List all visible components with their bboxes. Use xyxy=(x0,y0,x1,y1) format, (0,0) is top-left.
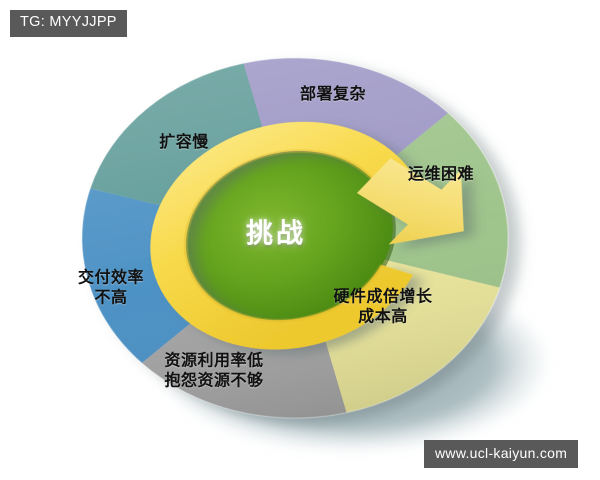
watermark-bottom-right: www.ucl-kaiyun.com xyxy=(424,440,578,468)
challenge-wheel-graphic xyxy=(0,0,600,480)
watermark-top-left: TG: MYYJJPP xyxy=(10,10,127,37)
diagram-canvas: 部署复杂 运维困难 硬件成倍增长 成本高 资源利用率低 抱怨资源不够 交付效率 … xyxy=(0,0,600,480)
